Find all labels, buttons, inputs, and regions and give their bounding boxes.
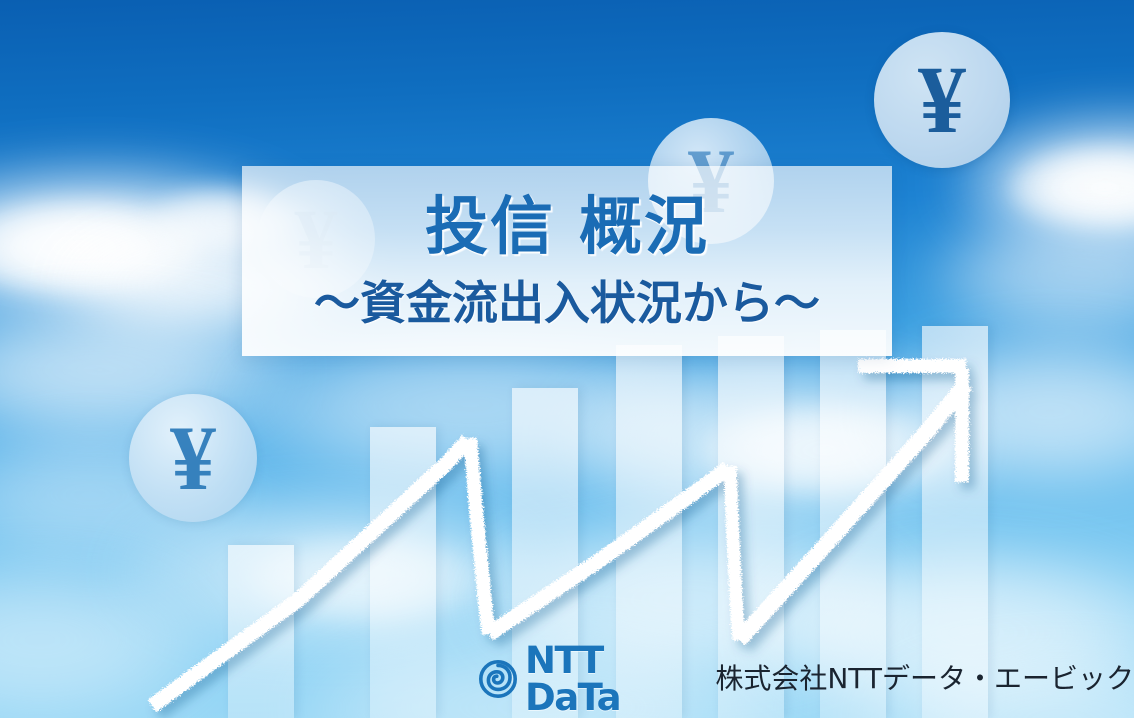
footer: NTT DaTa 株式会社NTTデータ・エービック: [478, 654, 1134, 704]
page-subtitle: 〜資金流出入状況から〜: [314, 280, 820, 326]
yen-coin-mid-left: ¥: [129, 394, 257, 522]
ntt-data-circle-swirl-icon: [478, 659, 518, 699]
company-name: 株式会社NTTデータ・エービック: [715, 665, 1134, 693]
ntt-data-logo: NTT DaTa: [478, 642, 689, 716]
page-title: 投信 概況: [425, 195, 709, 258]
title-slide: ¥ ¥: [0, 0, 1134, 718]
yen-symbol-icon: ¥: [170, 412, 216, 504]
yen-coin-top-right: ¥: [874, 32, 1010, 168]
ntt-data-wordmark: NTT DaTa: [525, 642, 689, 716]
title-panel: 投信 概況 〜資金流出入状況から〜: [242, 166, 892, 356]
yen-symbol-icon: ¥: [918, 52, 966, 148]
